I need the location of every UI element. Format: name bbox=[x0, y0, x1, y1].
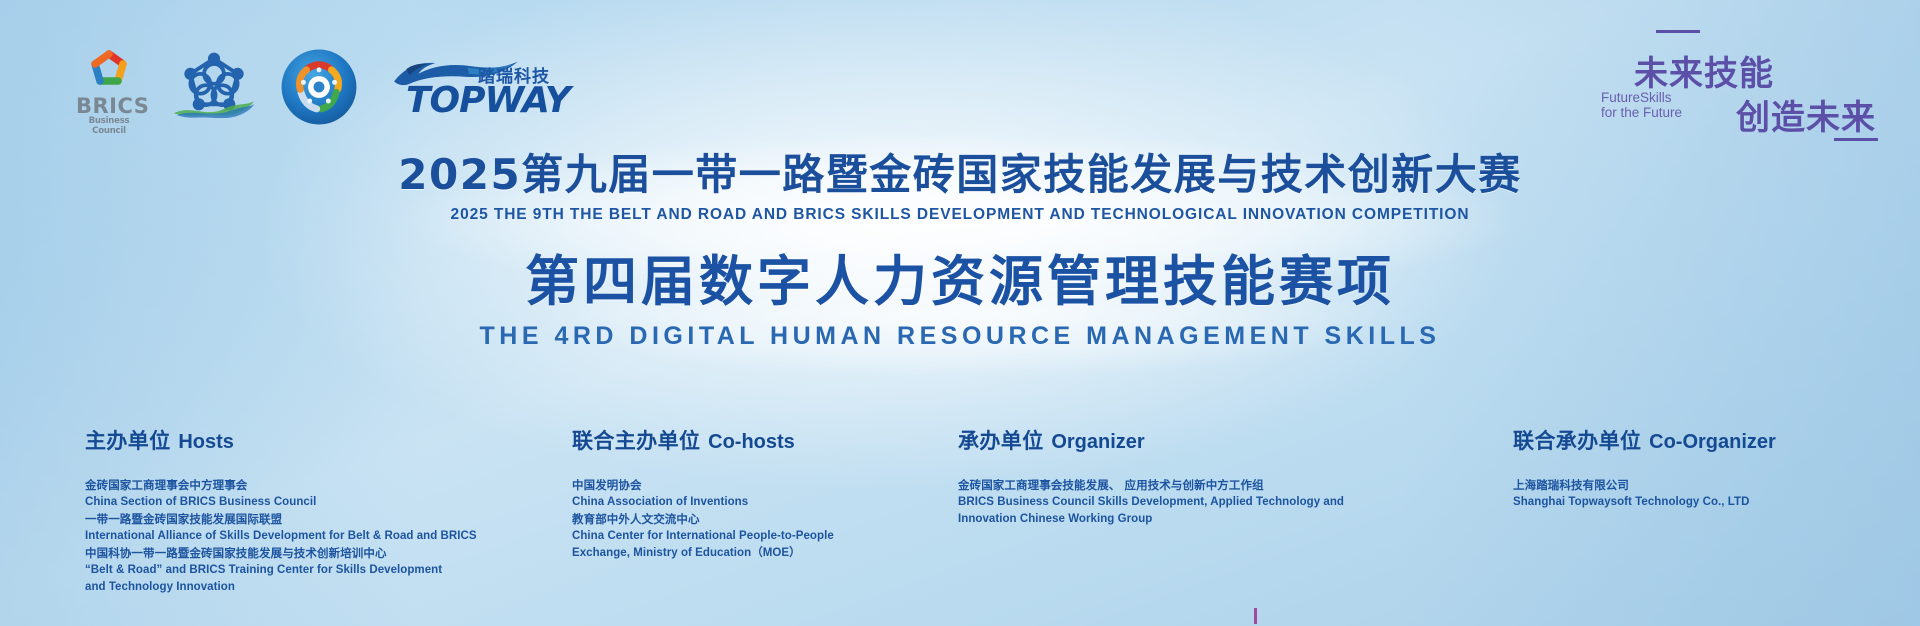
main-title-cn: 2025第九届一带一路暨金砖国家技能发展与技术创新大赛 bbox=[0, 150, 1920, 200]
belt-and-road-brics-alliance-logo bbox=[172, 48, 256, 118]
brics-wordmark: BRICS bbox=[76, 96, 142, 116]
organizer-heading-cn: 主办单位 bbox=[85, 429, 171, 453]
slogan-bottom-rule bbox=[1834, 138, 1878, 141]
organizer-line: 一带一路暨金砖国家技能发展国际联盟 bbox=[85, 511, 515, 528]
organizer-line: Exchange, Ministry of Education（MOE） bbox=[572, 545, 952, 562]
organizer-line: International Alliance of Skills Develop… bbox=[85, 528, 515, 545]
sub-title-cn: 第四届数字人力资源管理技能赛项 bbox=[0, 250, 1920, 314]
organizer-heading: 联合主办单位 Co-hosts bbox=[572, 425, 952, 455]
organizer-line: and Technology Innovation bbox=[85, 579, 515, 596]
organizer-line: BRICS Business Council Skills Developmen… bbox=[958, 494, 1398, 511]
slogan-en-lines: FutureSkills for the Future bbox=[1601, 90, 1682, 120]
organizer-line: 中国发明协会 bbox=[572, 477, 952, 494]
main-title-en: 2025 THE 9TH THE BELT AND ROAD AND BRICS… bbox=[0, 206, 1920, 224]
topway-logo: 踏瑞科技 TOPWAY bbox=[390, 60, 550, 122]
competition-banner: BRICS Business Council bbox=[0, 0, 1920, 626]
organizer-line: Shanghai Topwaysoft Technology Co., LTD bbox=[1513, 494, 1893, 511]
organizer-column-organizer: 承办单位 Organizer 金砖国家工商理事会技能发展、 应用技术与创新中方工… bbox=[958, 425, 1398, 528]
organizer-heading: 主办单位 Hosts bbox=[85, 425, 515, 455]
organizer-heading-en: Hosts bbox=[178, 431, 234, 453]
organizer-column-cohosts: 联合主办单位 Co-hosts 中国发明协会 China Association… bbox=[572, 425, 952, 562]
organizer-line: China Association of Inventions bbox=[572, 494, 952, 511]
organizer-line: 中国科协一带一路暨金砖国家技能发展与技术创新培训中心 bbox=[85, 545, 515, 562]
slogan-en-line2: for the Future bbox=[1601, 105, 1682, 120]
organizer-line: China Center for International People-to… bbox=[572, 528, 952, 545]
organizer-heading: 联合承办单位 Co-Organizer bbox=[1513, 425, 1893, 455]
organizer-lines: 中国发明协会 China Association of Inventions 教… bbox=[572, 477, 952, 562]
organizer-heading-cn: 联合主办单位 bbox=[572, 429, 700, 453]
skills-competition-emblem-logo bbox=[280, 48, 358, 126]
brics-business-council-logo: BRICS Business Council bbox=[76, 48, 142, 122]
organizer-line: Innovation Chinese Working Group bbox=[958, 511, 1398, 528]
sub-title-en: THE 4RD DIGITAL HUMAN RESOURCE MANAGEMEN… bbox=[0, 322, 1920, 351]
brics-subtitle: Business Council bbox=[76, 116, 142, 136]
title-block: 2025第九届一带一路暨金砖国家技能发展与技术创新大赛 2025 THE 9TH… bbox=[0, 150, 1920, 351]
organizer-heading-cn: 联合承办单位 bbox=[1513, 429, 1641, 453]
organizer-line: 上海踏瑞科技有限公司 bbox=[1513, 477, 1893, 494]
organizer-lines: 上海踏瑞科技有限公司 Shanghai Topwaysoft Technolog… bbox=[1513, 477, 1893, 511]
organizer-heading: 承办单位 Organizer bbox=[958, 425, 1398, 455]
slogan-cn-line1: 未来技能 bbox=[1634, 46, 1774, 95]
brics-star-icon bbox=[81, 48, 137, 94]
slogan-cn-line2: 创造未来 bbox=[1736, 90, 1876, 139]
organizer-lines: 金砖国家工商理事会中方理事会 China Section of BRICS Bu… bbox=[85, 477, 515, 596]
bottom-center-marker bbox=[1254, 608, 1257, 624]
topway-wordmark: TOPWAY bbox=[406, 82, 570, 120]
alliance-knot-icon bbox=[184, 53, 243, 111]
slogan-top-rule bbox=[1656, 30, 1700, 33]
organizer-line: 教育部中外人文交流中心 bbox=[572, 511, 952, 528]
organizer-lines: 金砖国家工商理事会技能发展、 应用技术与创新中方工作组 BRICS Busine… bbox=[958, 477, 1398, 528]
organizer-line: 金砖国家工商理事会中方理事会 bbox=[85, 477, 515, 494]
organizer-column-hosts: 主办单位 Hosts 金砖国家工商理事会中方理事会 China Section … bbox=[85, 425, 515, 596]
organizer-line: “Belt & Road” and BRICS Training Center … bbox=[85, 562, 515, 579]
organizer-heading-en: Co-hosts bbox=[708, 431, 795, 453]
slogan-en-line1: FutureSkills bbox=[1601, 90, 1682, 105]
organizer-heading-cn: 承办单位 bbox=[958, 429, 1044, 453]
organizer-heading-en: Organizer bbox=[1051, 431, 1144, 453]
organizer-column-coorganizer: 联合承办单位 Co-Organizer 上海踏瑞科技有限公司 Shanghai … bbox=[1513, 425, 1893, 511]
organizer-line: 金砖国家工商理事会技能发展、 应用技术与创新中方工作组 bbox=[958, 477, 1398, 494]
organizer-line: China Section of BRICS Business Council bbox=[85, 494, 515, 511]
organizer-heading-en: Co-Organizer bbox=[1649, 431, 1776, 453]
